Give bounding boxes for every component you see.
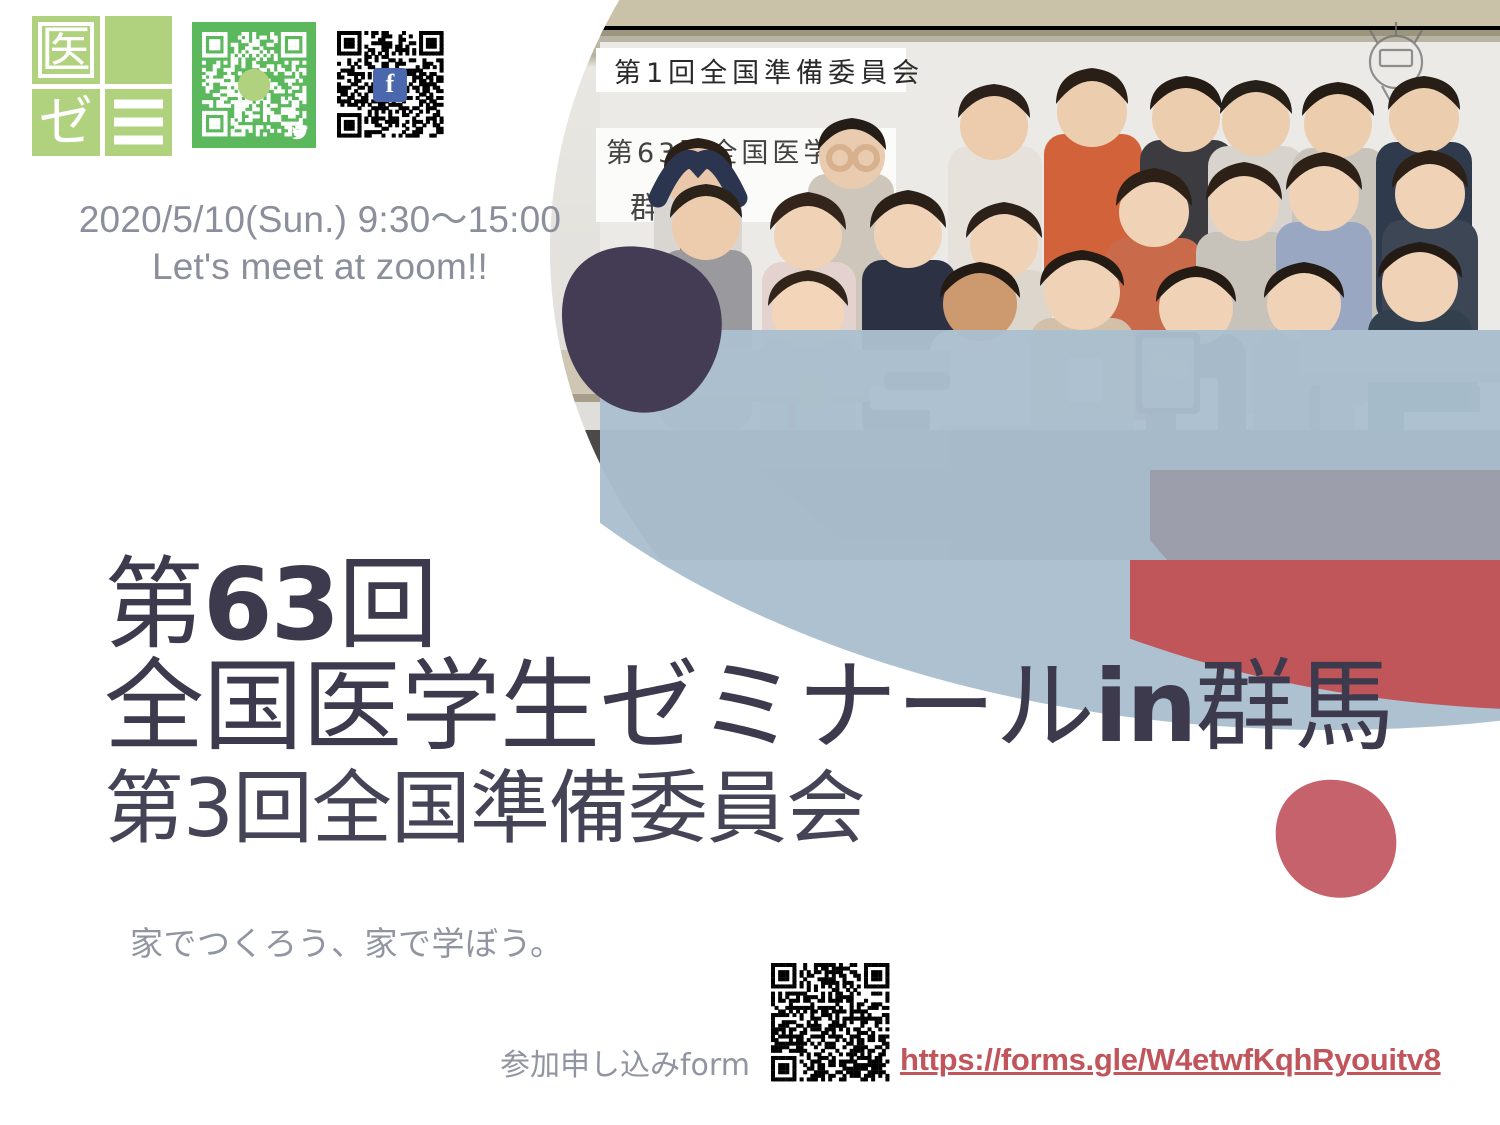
title-line1-suffix: 回 bbox=[338, 546, 437, 663]
logo-bars bbox=[114, 91, 164, 154]
poster-canvas: 第1回全国準備委員会 第63回全国医学生 群馬 bbox=[0, 0, 1500, 1125]
title-line2-prefix: 全国医学生ゼミナール bbox=[104, 648, 1094, 765]
title-line2-in: in bbox=[1094, 648, 1195, 765]
logo-cell-blank bbox=[105, 16, 173, 84]
poster-title: 第63回 全国医学生ゼミナールin群馬 第3回全国準備委員会 bbox=[104, 552, 1434, 854]
poster-tagline: 家でつくろう、家で学ぼう。 bbox=[130, 917, 564, 965]
facebook-f-icon: f bbox=[373, 68, 407, 102]
facebook-qr-code[interactable]: f bbox=[332, 26, 448, 144]
svg-text:第1回全国準備委員会: 第1回全国準備委員会 bbox=[614, 58, 924, 89]
title-edition-number: 63 bbox=[203, 546, 338, 663]
event-date-line: 2020/5/10(Sun.) 9:30〜15:00 bbox=[79, 199, 561, 240]
title-line-2: 全国医学生ゼミナールin群馬 bbox=[104, 654, 1434, 760]
application-form-label: 参加申し込みform bbox=[500, 1040, 750, 1084]
title-line-3: 第3回全国準備委員会 bbox=[104, 764, 1434, 854]
event-platform-line: Let's meet at zoom!! bbox=[0, 243, 640, 290]
twitter-bird-icon bbox=[290, 124, 310, 142]
facebook-badge: f bbox=[373, 68, 407, 102]
logo-cell-san bbox=[105, 89, 173, 157]
twitter-qr-center-logo bbox=[238, 69, 270, 101]
logo-cell-ze: ゼ bbox=[32, 89, 100, 157]
logo-glyph-ze: ゼ bbox=[32, 89, 100, 157]
event-datetime: 2020/5/10(Sun.) 9:30〜15:00 Let's meet at… bbox=[0, 196, 640, 291]
title-line-1: 第63回 bbox=[104, 552, 1434, 658]
title-line2-suffix: 群馬 bbox=[1195, 648, 1393, 765]
application-form-url[interactable]: https://forms.gle/W4etwfKqhRyouitv8 bbox=[900, 1042, 1441, 1078]
logo-cell-i: 医 bbox=[32, 16, 100, 84]
application-form-qr-code[interactable] bbox=[766, 958, 894, 1088]
title-line1-prefix: 第 bbox=[104, 546, 203, 663]
logo-glyph-i: 医 bbox=[32, 16, 100, 84]
igaku-zemi-logo: 医 ゼ bbox=[32, 16, 172, 156]
twitter-qr-code[interactable] bbox=[192, 22, 316, 148]
